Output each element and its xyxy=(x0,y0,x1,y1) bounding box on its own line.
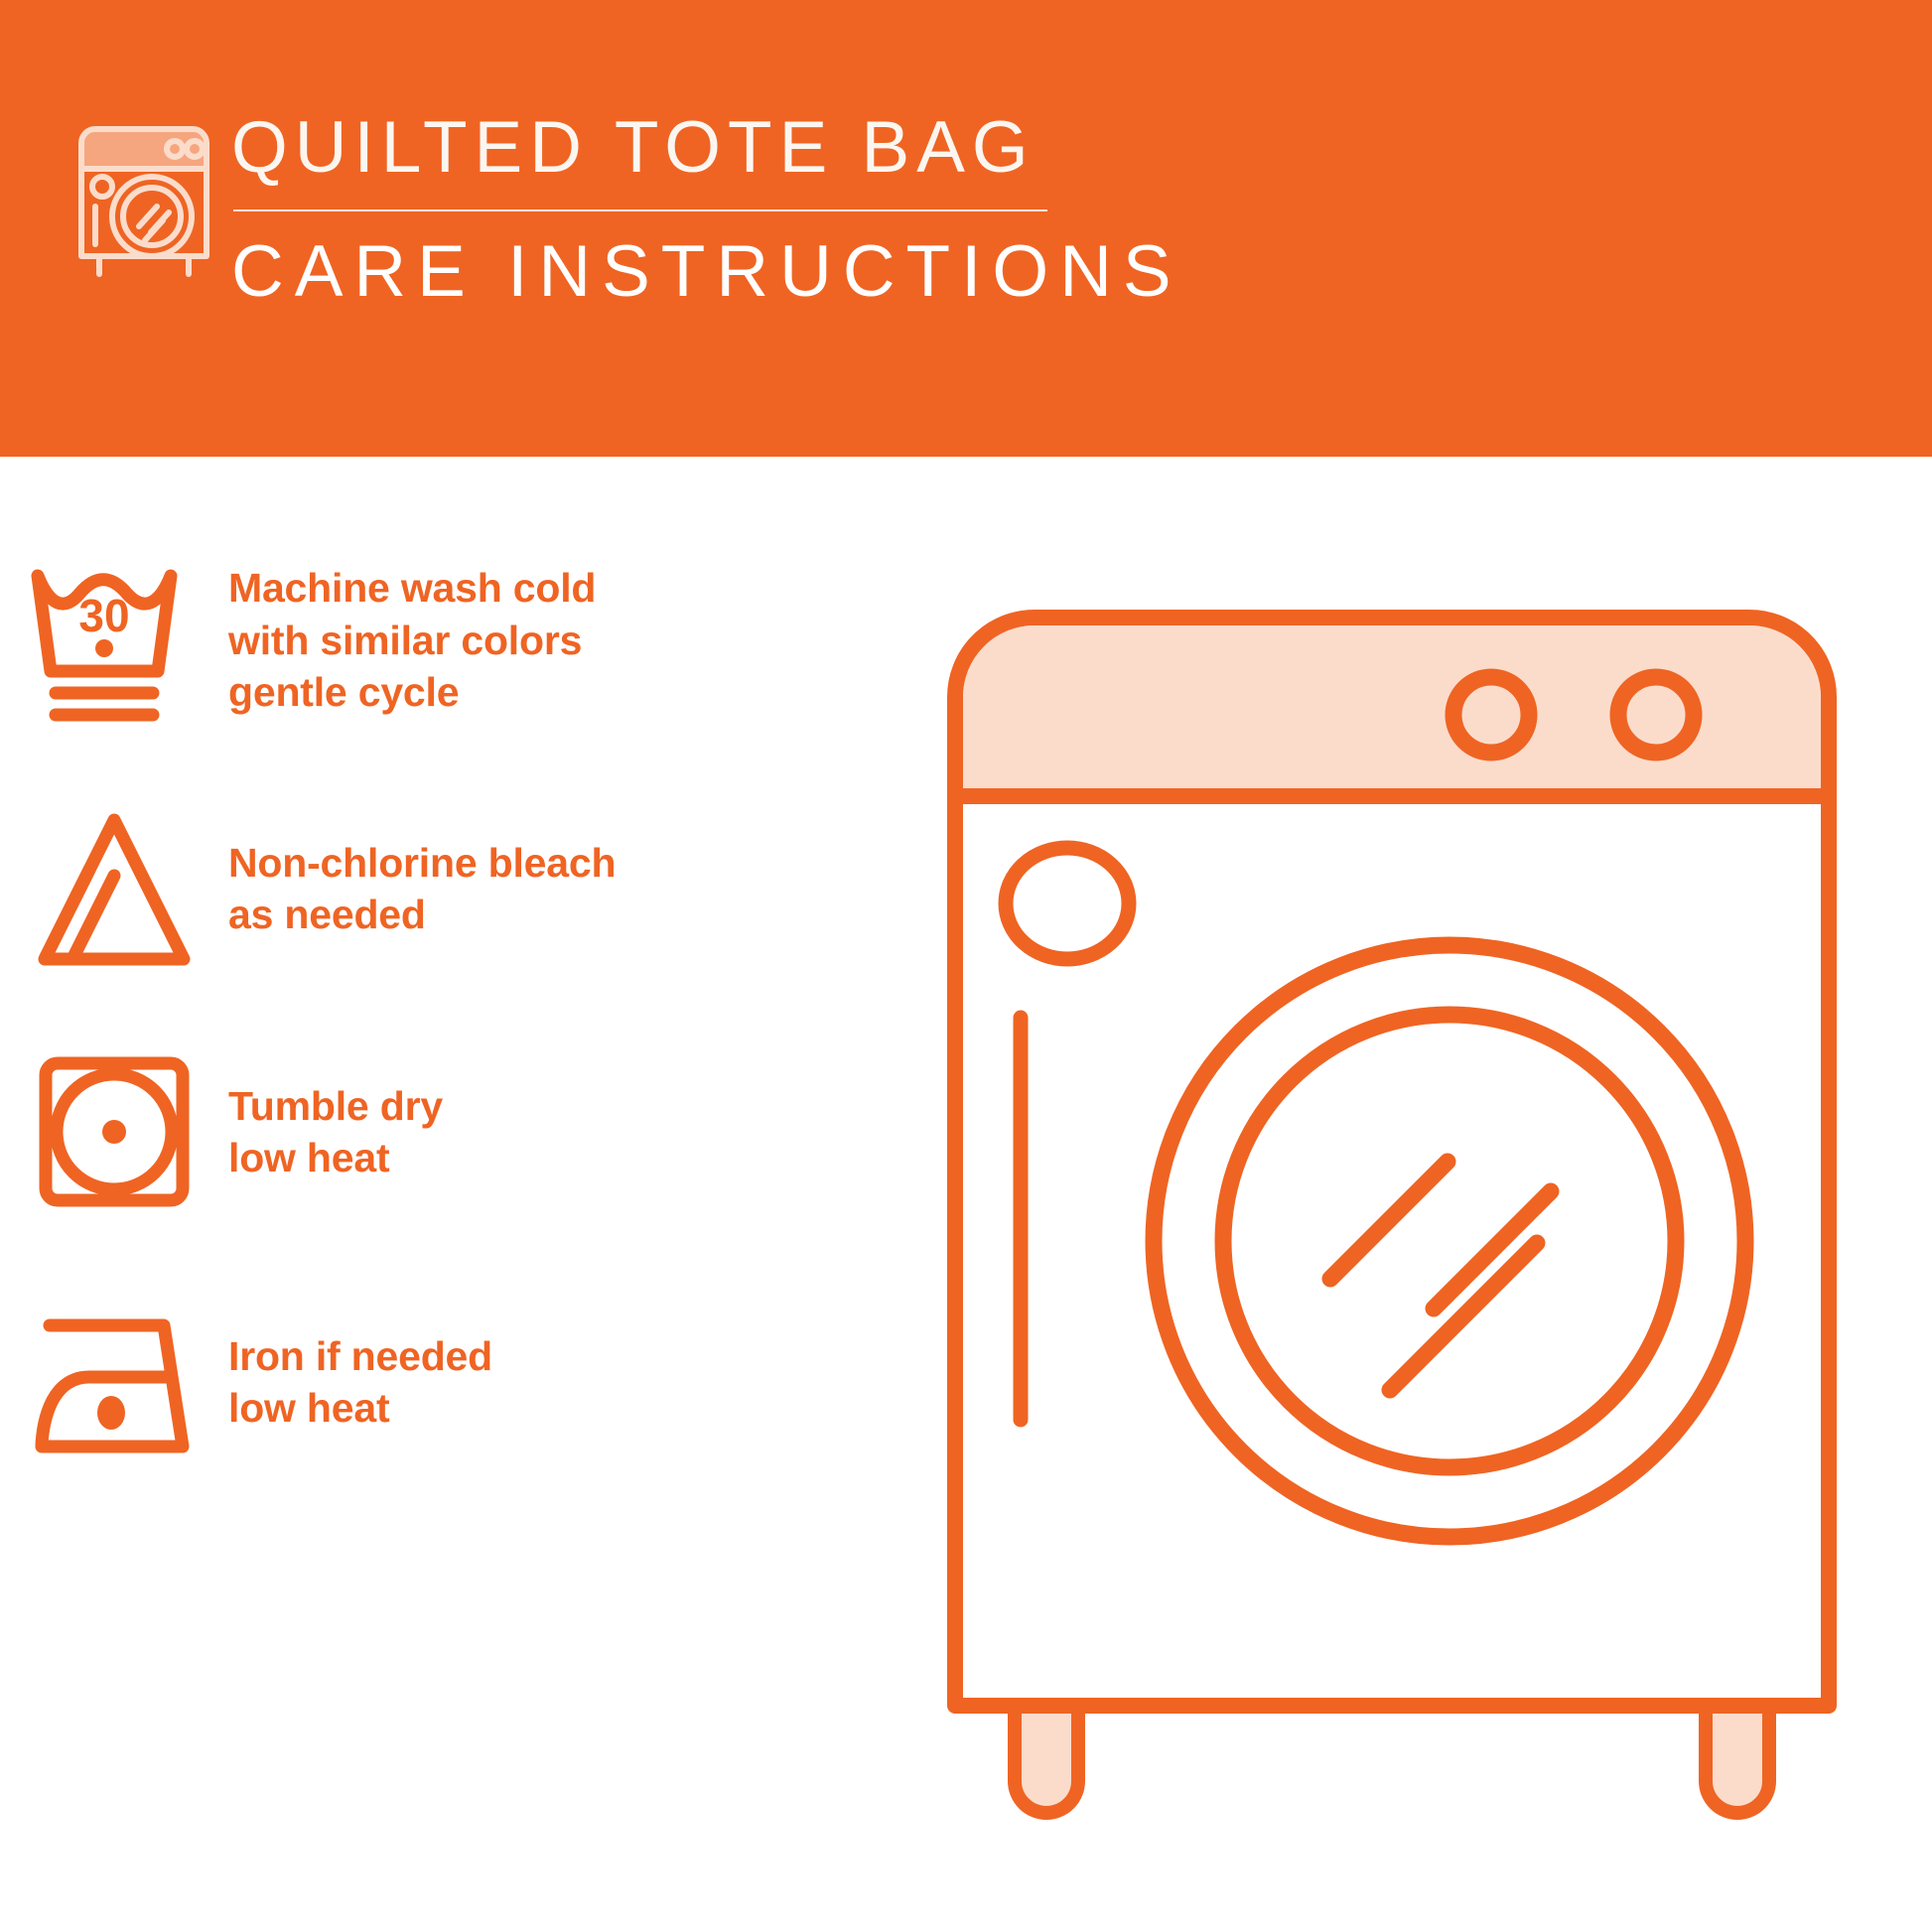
header-title-block: QUILTED TOTE BAG CARE INSTRUCTIONS xyxy=(231,111,1343,308)
iron-icon xyxy=(0,1283,228,1481)
bleach-triangle-icon xyxy=(0,789,228,988)
care-line: Machine wash cold xyxy=(228,562,596,614)
leg-left xyxy=(1015,1706,1078,1813)
care-line: gentle cycle xyxy=(228,666,596,718)
wash-tub-icon: 30 xyxy=(0,541,228,740)
care-instructions-page: QUILTED TOTE BAG CARE INSTRUCTIONS 30 xyxy=(0,0,1932,1932)
care-instruction-list: 30 Machine wash cold with similar colors… xyxy=(0,457,804,1932)
care-line: Iron if needed xyxy=(228,1330,492,1382)
care-row-tumble-dry: Tumble dry low heat xyxy=(0,1033,784,1231)
tumble-dry-icon xyxy=(0,1033,228,1231)
care-line: as needed xyxy=(228,889,616,940)
care-line: with similar colors xyxy=(228,615,596,666)
page-header: QUILTED TOTE BAG CARE INSTRUCTIONS xyxy=(0,0,1932,457)
care-row-machine-wash: 30 Machine wash cold with similar colors… xyxy=(0,541,784,740)
care-row-bleach: Non-chlorine bleach as needed xyxy=(0,789,784,988)
page-title: QUILTED TOTE BAG xyxy=(231,111,1343,184)
care-row-iron: Iron if needed low heat xyxy=(0,1283,784,1481)
care-line: Tumble dry xyxy=(228,1080,443,1132)
title-divider xyxy=(233,209,1047,211)
care-text-bleach: Non-chlorine bleach as needed xyxy=(228,837,616,941)
washing-machine-icon xyxy=(69,117,218,281)
care-text-tumble-dry: Tumble dry low heat xyxy=(228,1080,443,1184)
leg-right xyxy=(1706,1706,1769,1813)
wash-temperature-label: 30 xyxy=(78,590,129,641)
care-line: low heat xyxy=(228,1132,443,1183)
care-text-machine-wash: Machine wash cold with similar colors ge… xyxy=(228,562,596,718)
washing-machine-illustration xyxy=(943,606,1876,1857)
care-line: Non-chlorine bleach xyxy=(228,837,616,889)
care-text-iron: Iron if needed low heat xyxy=(228,1330,492,1435)
care-line: low heat xyxy=(228,1382,492,1434)
page-subtitle: CARE INSTRUCTIONS xyxy=(231,235,1343,308)
